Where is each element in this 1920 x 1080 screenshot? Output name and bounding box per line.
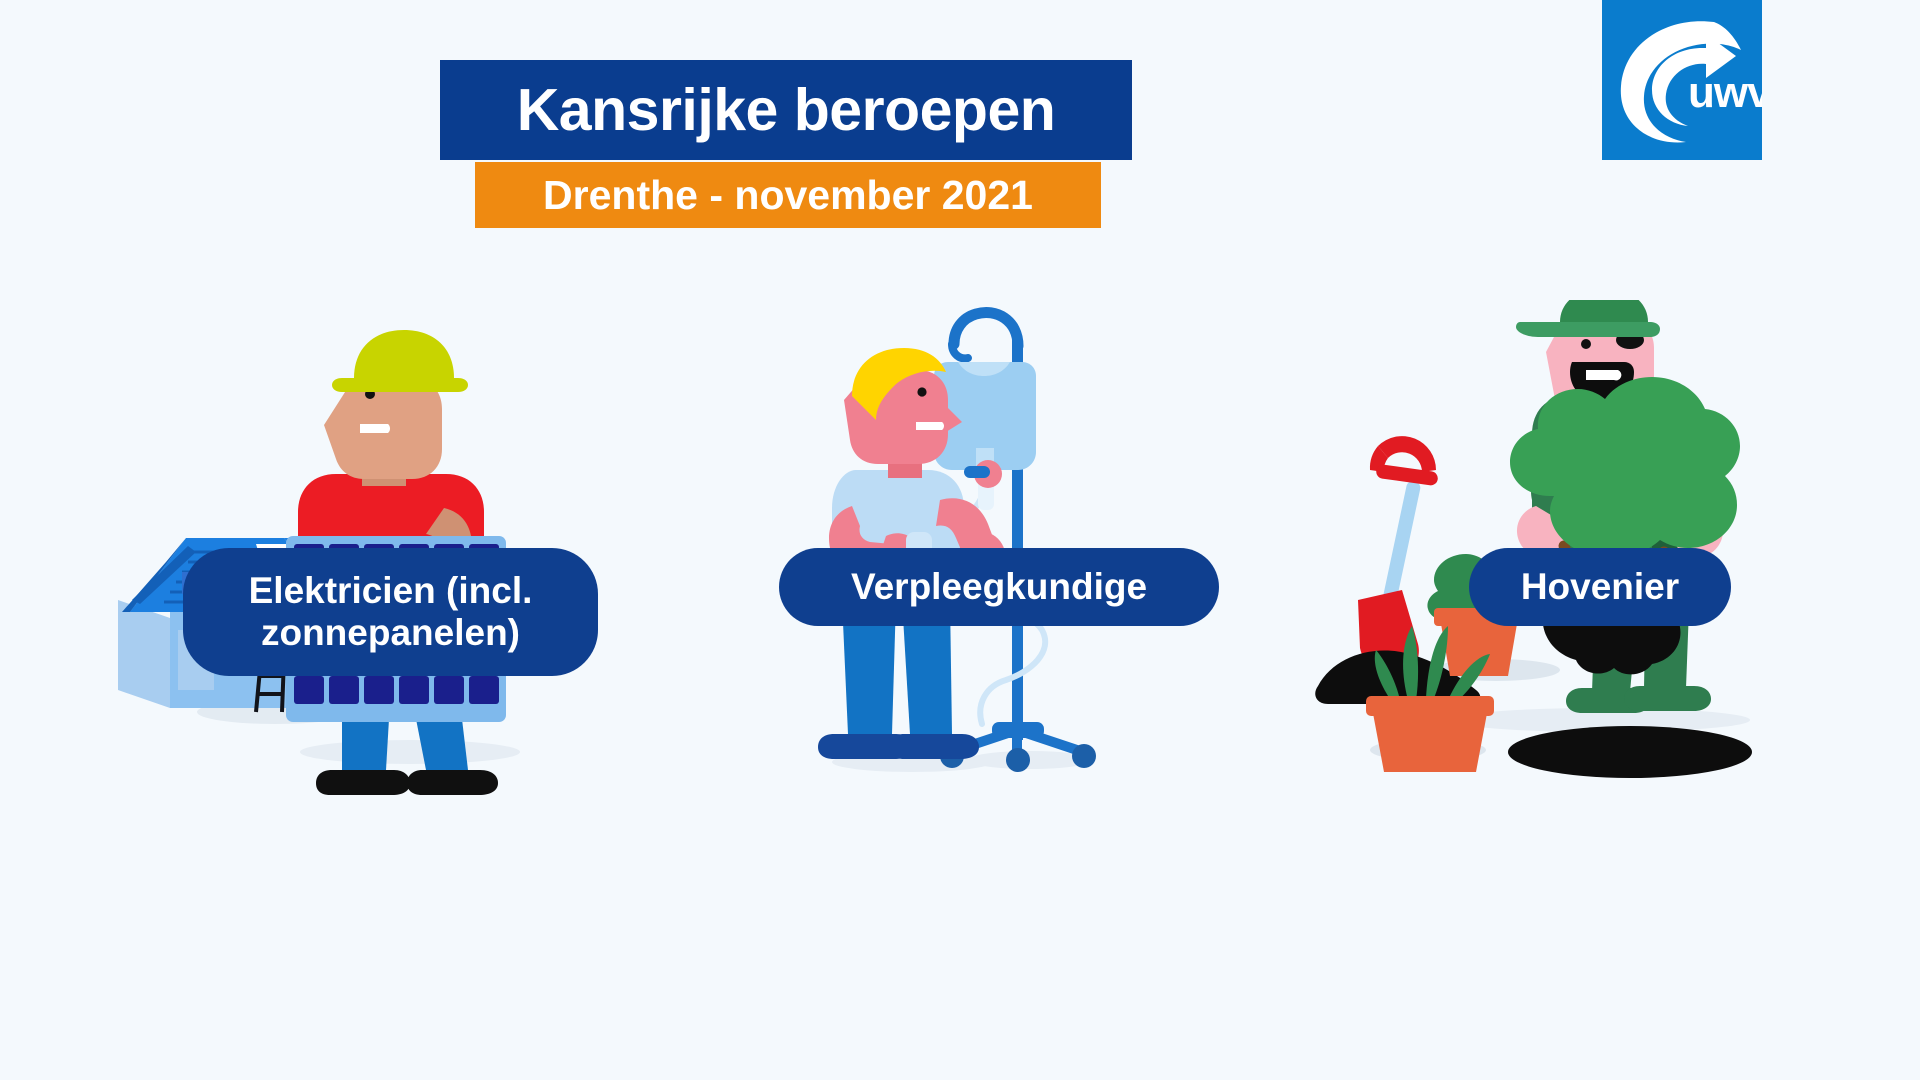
subtitle-banner: Drenthe - november 2021 xyxy=(475,162,1101,228)
page-title: Kansrijke beroepen xyxy=(517,81,1056,140)
profession-label-elektricien[interactable]: Elektricien (incl. zonnepanelen) xyxy=(183,548,598,676)
profession-label-hovenier[interactable]: Hovenier xyxy=(1469,548,1731,626)
profession-column-verpleegkundige xyxy=(700,300,1220,1020)
profession-column-hovenier xyxy=(1300,300,1820,1020)
logo-wordmark: uwv xyxy=(1688,68,1762,117)
uwv-logo[interactable]: uwv xyxy=(1602,0,1762,160)
shovel xyxy=(1358,436,1439,676)
subtitle-region-date: Drenthe - november 2021 xyxy=(543,175,1033,216)
soil-mound xyxy=(1508,726,1752,778)
title-banner: Kansrijke beroepen xyxy=(440,60,1132,160)
profession-label-verpleegkundige[interactable]: Verpleegkundige xyxy=(779,548,1219,626)
infographic-canvas: Kansrijke beroepen Drenthe - november 20… xyxy=(0,0,1920,1080)
